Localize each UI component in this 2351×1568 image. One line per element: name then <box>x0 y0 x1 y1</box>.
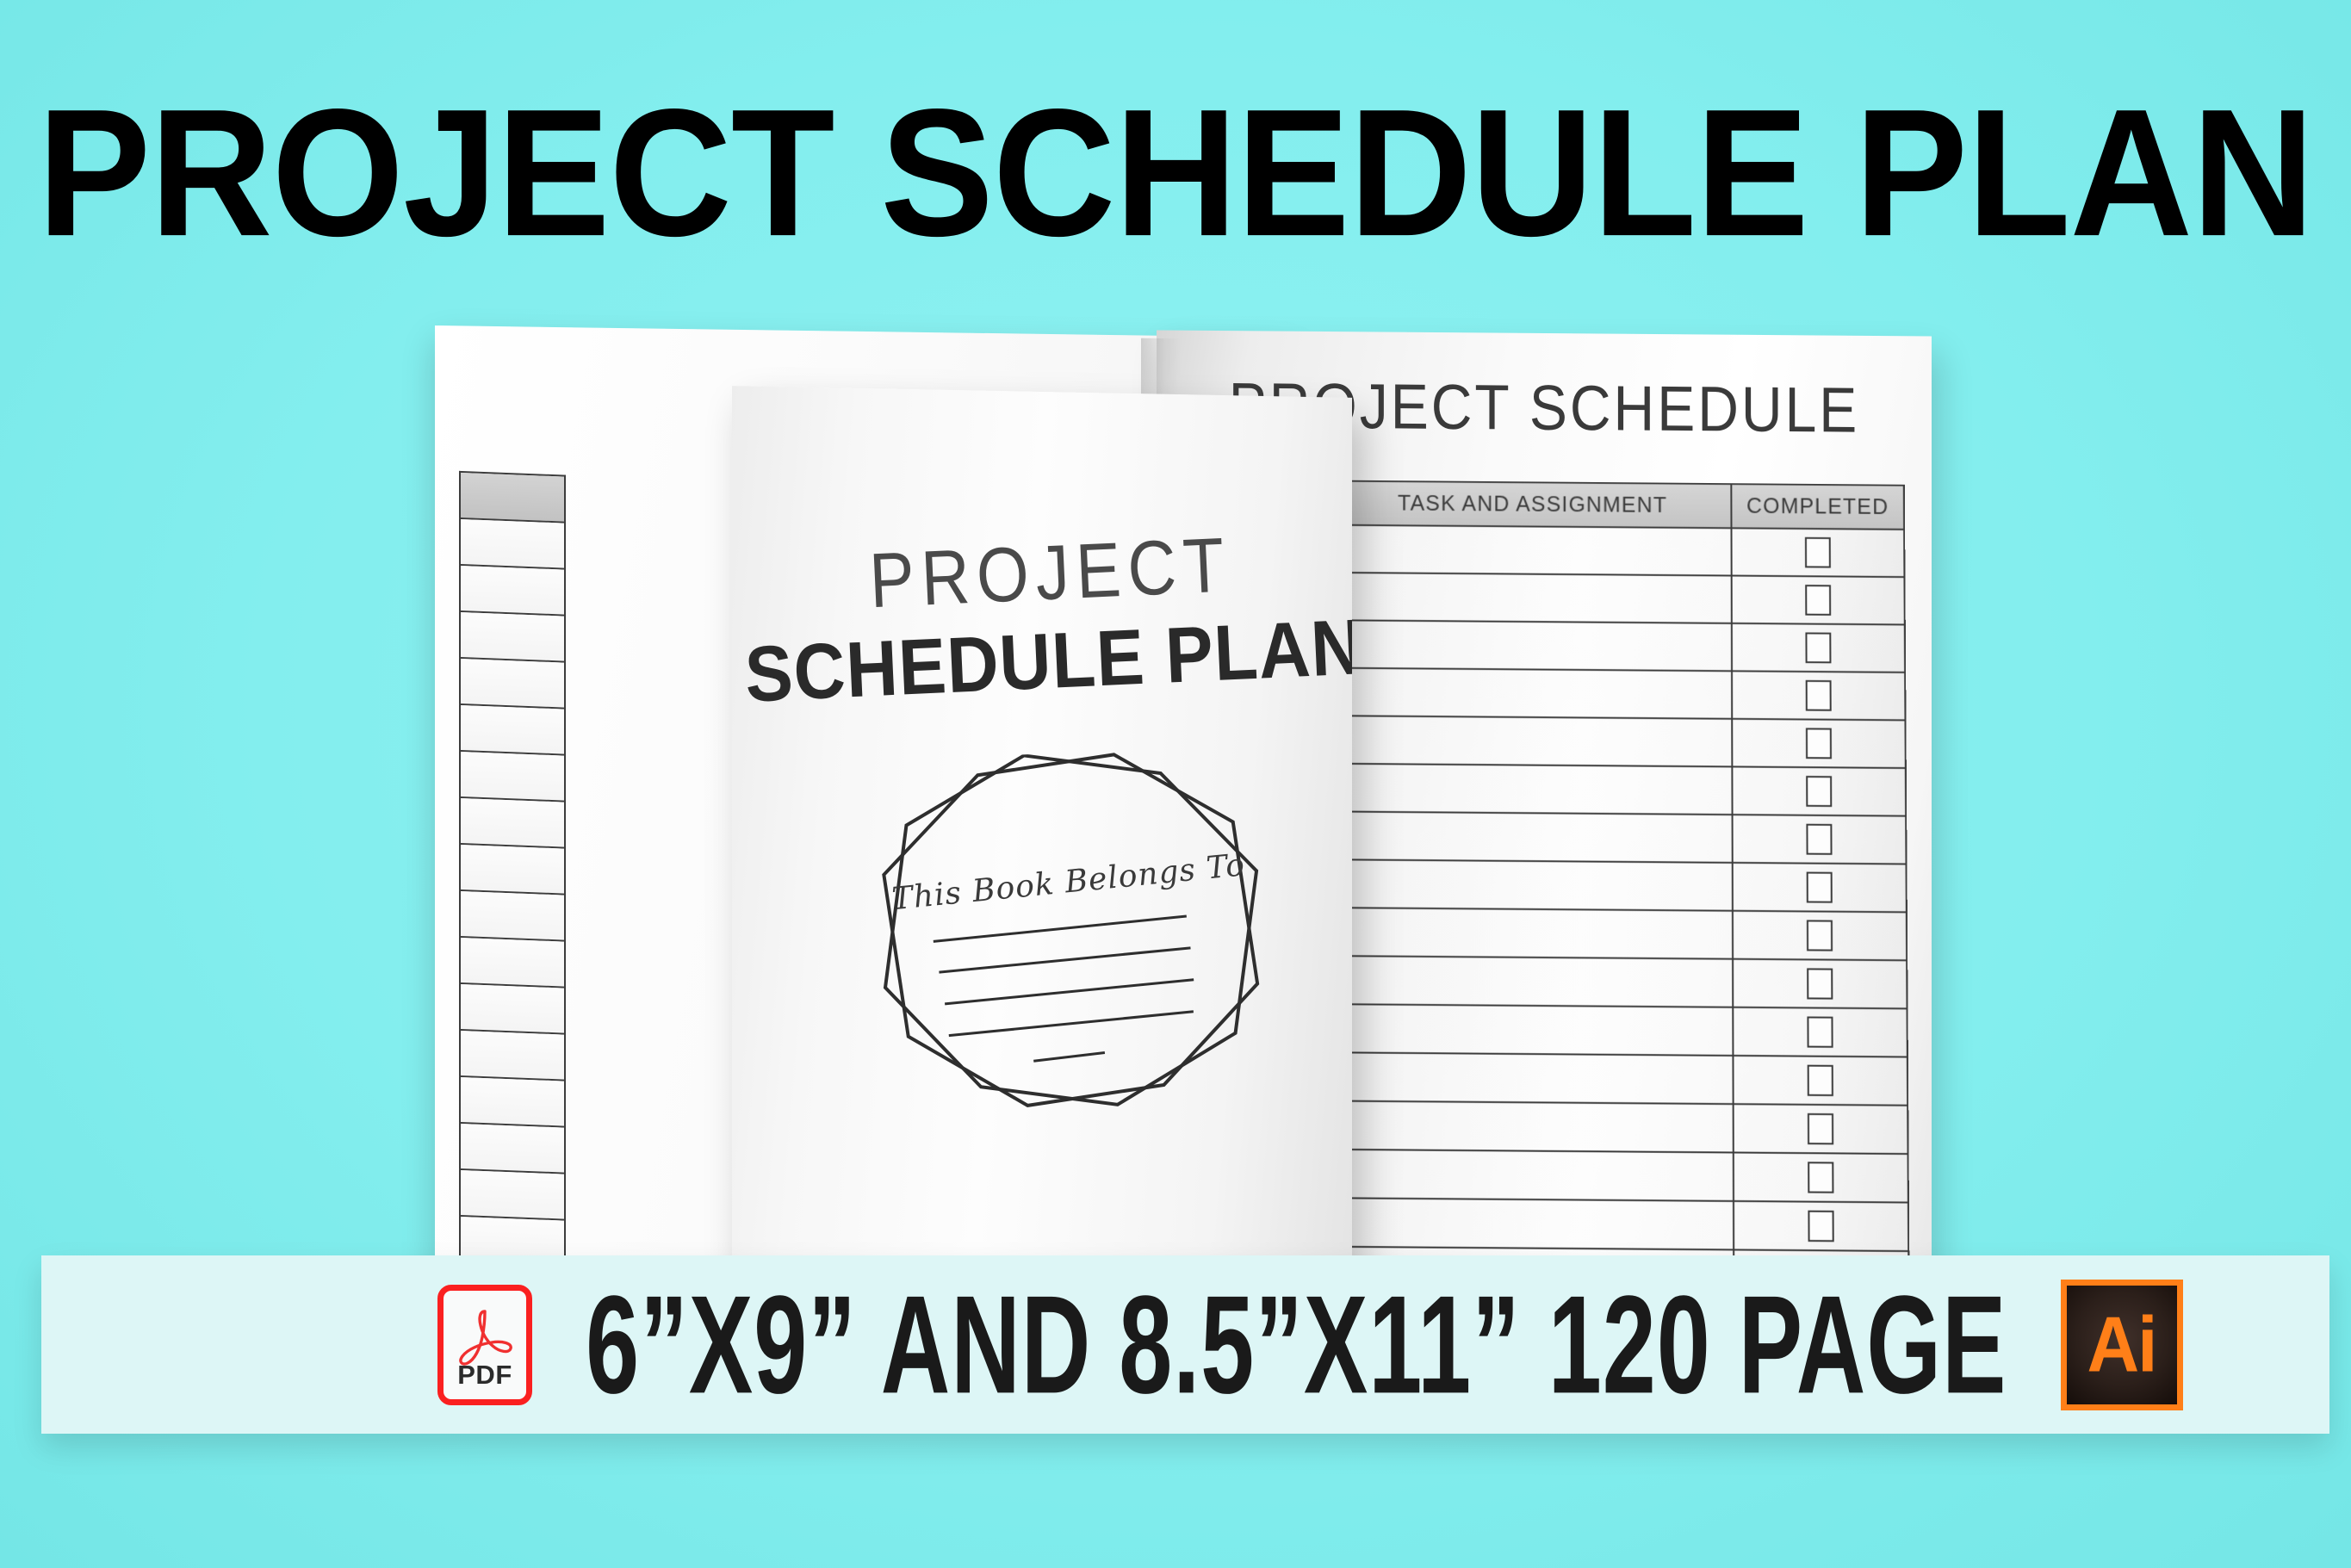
cell-completed[interactable] <box>1734 1008 1907 1057</box>
back-sheet-table-row <box>461 845 564 896</box>
cell-task[interactable] <box>1334 526 1732 575</box>
cell-task[interactable] <box>1333 860 1734 910</box>
cell-completed[interactable] <box>1734 864 1906 911</box>
cell-task[interactable] <box>1333 1005 1734 1055</box>
back-sheet-table-header <box>461 473 564 524</box>
completed-checkbox[interactable] <box>1806 680 1832 711</box>
cell-completed[interactable] <box>1733 624 1904 672</box>
cell-completed[interactable] <box>1734 1057 1907 1105</box>
cell-completed[interactable] <box>1734 1154 1907 1202</box>
back-sheet-table-row <box>461 519 564 570</box>
back-sheet-table-row <box>461 1124 564 1174</box>
back-sheet-table-row <box>461 938 564 989</box>
cell-task[interactable] <box>1334 573 1733 623</box>
cell-task[interactable] <box>1332 1102 1734 1152</box>
cell-task[interactable] <box>1334 669 1733 718</box>
back-sheet-table-row <box>461 705 564 756</box>
cell-task[interactable] <box>1334 716 1734 765</box>
cell-completed[interactable] <box>1732 529 1903 576</box>
cell-task[interactable] <box>1334 621 1733 670</box>
cell-task[interactable] <box>1333 957 1734 1007</box>
completed-checkbox[interactable] <box>1807 872 1833 903</box>
back-sheet-table-row <box>461 1170 564 1221</box>
completed-checkbox[interactable] <box>1806 776 1832 807</box>
pdf-file-icon: PDF <box>437 1285 532 1405</box>
book-cover-page: PROJECT SCHEDULE PLAN This Book Belongs … <box>732 386 1352 1379</box>
octagon-frame-icon <box>847 743 1294 1132</box>
back-sheet-table-row <box>461 612 564 663</box>
completed-checkbox[interactable] <box>1807 920 1833 951</box>
cell-completed[interactable] <box>1733 672 1904 719</box>
cell-completed[interactable] <box>1733 577 1904 624</box>
completed-checkbox[interactable] <box>1805 585 1831 616</box>
completed-checkbox[interactable] <box>1807 968 1833 999</box>
column-header-completed: COMPLETED <box>1732 485 1903 529</box>
page-title: PROJECT SCHEDULE PLAN <box>0 82 2351 263</box>
back-sheet-table-row <box>461 891 564 942</box>
back-sheet-table <box>459 471 566 1304</box>
back-sheet-table-row <box>461 752 564 803</box>
completed-checkbox[interactable] <box>1806 728 1832 759</box>
book-mockup: PROJECT SCHEDULE DATE TASK AND ASSIGNMEN… <box>435 323 1933 1391</box>
completed-checkbox[interactable] <box>1808 1065 1833 1096</box>
completed-checkbox[interactable] <box>1806 824 1832 855</box>
cell-completed[interactable] <box>1734 815 1906 863</box>
cell-completed[interactable] <box>1734 1202 1907 1250</box>
cell-completed[interactable] <box>1733 767 1905 815</box>
ai-label: Ai <box>2087 1299 2156 1390</box>
back-sheet-table-row <box>461 1031 564 1081</box>
cell-task[interactable] <box>1334 765 1734 814</box>
back-sheet-table-row <box>461 984 564 1035</box>
cell-completed[interactable] <box>1733 720 1905 767</box>
acrobat-swirl-icon <box>454 1305 516 1368</box>
completed-checkbox[interactable] <box>1808 1113 1833 1144</box>
cell-completed[interactable] <box>1734 1105 1907 1153</box>
spec-text: 6”X9” AND 8.5”X11” 120 PAGE <box>586 1264 2007 1424</box>
cell-completed[interactable] <box>1734 912 1906 960</box>
cell-completed[interactable] <box>1734 960 1906 1008</box>
completed-checkbox[interactable] <box>1805 632 1831 663</box>
adobe-illustrator-icon: Ai <box>2061 1280 2183 1410</box>
completed-checkbox[interactable] <box>1807 1016 1833 1047</box>
completed-checkbox[interactable] <box>1808 1211 1833 1243</box>
back-sheet-table-row <box>461 798 564 849</box>
cell-task[interactable] <box>1333 812 1733 861</box>
spec-banner: PDF 6”X9” AND 8.5”X11” 120 PAGE Ai <box>41 1255 2329 1434</box>
completed-checkbox[interactable] <box>1808 1162 1833 1193</box>
back-sheet-table-row <box>461 1077 564 1128</box>
completed-checkbox[interactable] <box>1805 537 1831 568</box>
cell-task[interactable] <box>1332 1150 1734 1200</box>
cell-task[interactable] <box>1332 1053 1734 1103</box>
belongs-to-badge: This Book Belongs To <box>847 743 1294 1132</box>
column-header-task: TASK AND ASSIGNMENT <box>1335 481 1733 527</box>
cell-task[interactable] <box>1332 1199 1734 1249</box>
cell-task[interactable] <box>1333 908 1734 958</box>
back-sheet-table-row <box>461 659 564 710</box>
back-sheet-table-row <box>461 566 564 617</box>
